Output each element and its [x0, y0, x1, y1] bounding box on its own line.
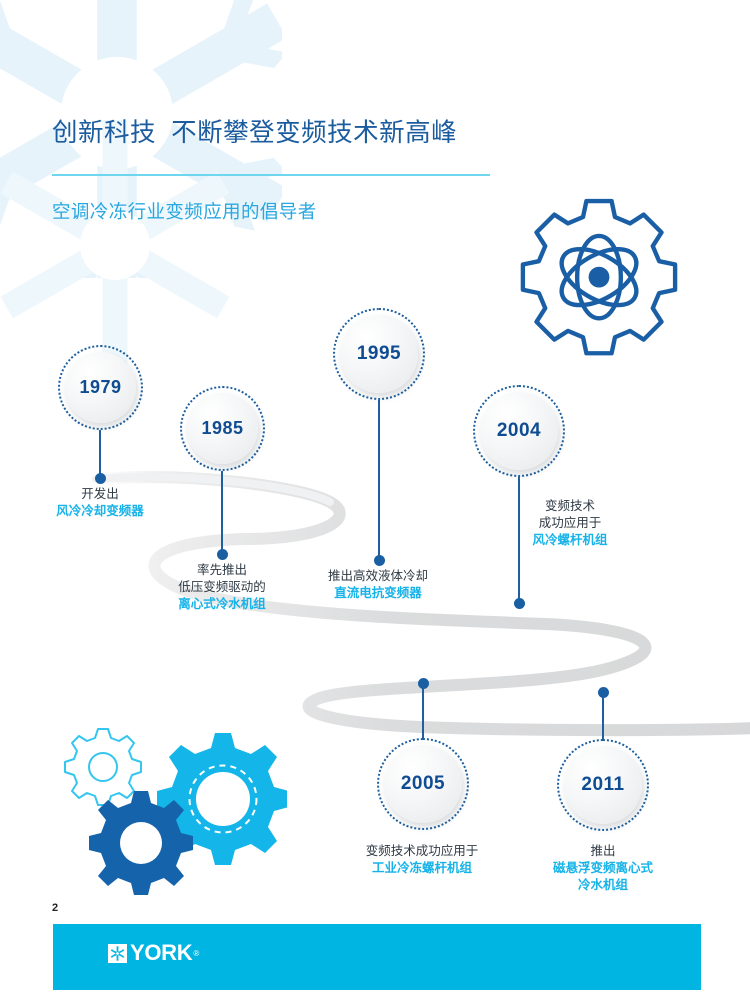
connector-stem — [221, 471, 223, 554]
caption-line: 推出高效液体冷却 — [288, 568, 468, 585]
caption-highlight: 直流电抗变频器 — [288, 585, 468, 602]
year-bubble[interactable]: 1979 — [58, 345, 143, 430]
connector-dot — [514, 598, 525, 609]
year-bubble[interactable]: 2004 — [473, 385, 565, 477]
title-divider — [52, 174, 490, 176]
caption-highlight: 离心式冷水机组 — [132, 596, 312, 613]
york-wordmark: YORK — [130, 940, 192, 966]
node-caption: 变频技术 成功应用于 风冷螺杆机组 — [495, 498, 645, 549]
connector-stem — [602, 693, 604, 741]
connector-stem — [99, 430, 101, 478]
caption-highlight: 冷水机组 — [513, 877, 693, 894]
year-label: 2004 — [497, 420, 541, 442]
year-label: 2005 — [401, 773, 445, 795]
year-bubble[interactable]: 2011 — [557, 739, 649, 831]
year-label: 1985 — [201, 418, 243, 439]
york-logo: YORK ® — [108, 940, 199, 966]
caption-line: 率先推出 — [132, 562, 312, 579]
caption-highlight: 磁悬浮变频离心式 — [513, 860, 693, 877]
node-caption: 推出高效液体冷却 直流电抗变频器 — [288, 568, 468, 602]
caption-highlight: 风冷冷却变频器 — [10, 503, 190, 520]
connector-dot — [95, 473, 106, 484]
caption-line: 推出 — [513, 843, 693, 860]
year-bubble[interactable]: 2005 — [377, 738, 469, 830]
connector-stem — [422, 684, 424, 740]
connector-dot — [217, 549, 228, 560]
header: 创新科技 不断攀登变频技术新高峰 空调冷冻行业变频应用的倡导者 — [52, 118, 692, 150]
year-label: 1979 — [79, 377, 121, 398]
caption-line: 变频技术成功应用于 — [332, 843, 512, 860]
year-label: 2011 — [581, 774, 624, 796]
gear-cluster-icon — [55, 722, 287, 897]
york-snowflake-mark-icon — [108, 944, 127, 963]
caption-highlight: 工业冷冻螺杆机组 — [332, 860, 512, 877]
node-caption: 推出 磁悬浮变频离心式 冷水机组 — [513, 843, 693, 894]
year-bubble[interactable]: 1985 — [180, 386, 265, 471]
caption-line: 低压变频驱动的 — [132, 579, 312, 596]
node-caption: 率先推出 低压变频驱动的 离心式冷水机组 — [132, 562, 312, 613]
footer-bar: YORK ® — [53, 924, 701, 990]
node-caption: 变频技术成功应用于 工业冷冻螺杆机组 — [332, 843, 512, 877]
page-title: 创新科技 不断攀登变频技术新高峰 — [52, 118, 692, 150]
caption-line: 开发出 — [10, 486, 190, 503]
slide-page: 创新科技 不断攀登变频技术新高峰 空调冷冻行业变频应用的倡导者 — [0, 0, 750, 1000]
year-bubble[interactable]: 1995 — [333, 308, 425, 400]
connector-stem — [378, 400, 380, 562]
node-caption: 开发出 风冷冷却变频器 — [10, 486, 190, 520]
trademark-symbol: ® — [193, 949, 199, 958]
caption-highlight: 风冷螺杆机组 — [495, 532, 645, 549]
caption-line: 变频技术 — [495, 498, 645, 515]
caption-line: 成功应用于 — [495, 515, 645, 532]
year-label: 1995 — [357, 343, 401, 365]
connector-dot — [374, 555, 385, 566]
page-number: 2 — [52, 902, 58, 914]
page-subtitle: 空调冷冻行业变频应用的倡导者 — [52, 198, 317, 224]
